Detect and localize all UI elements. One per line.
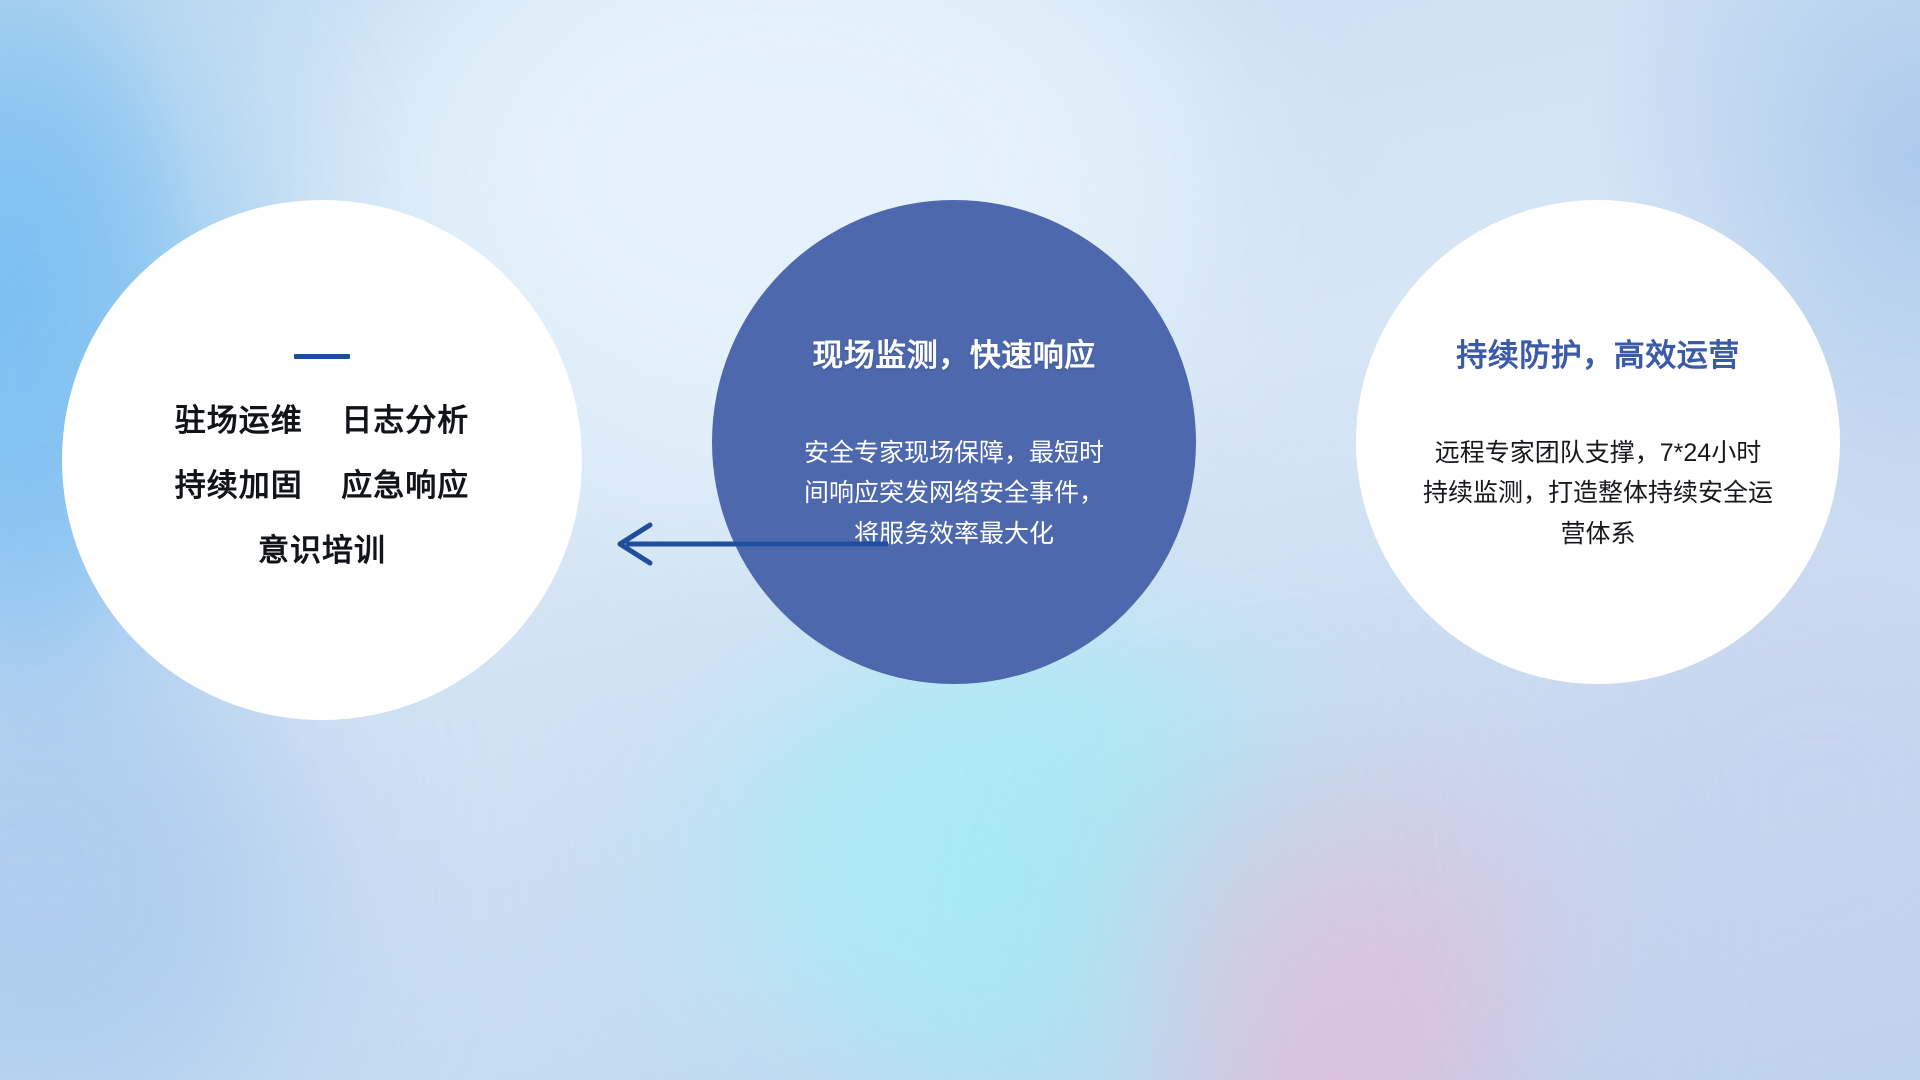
onsite-title: 现场监测，快速响应 [812,330,1096,375]
onsite-monitoring-circle[interactable]: 现场监测，快速响应 安全专家现场保障，最短时间响应突发网络安全事件，将服务效率最… [712,200,1196,684]
remote-operations-circle[interactable]: 持续防护，高效运营 远程专家团队支撑，7*24小时持续监测，打造整体持续安全运营… [1356,200,1840,684]
remote-title: 持续防护，高效运营 [1456,330,1740,375]
services-circle[interactable]: 驻场运维 日志分析 持续加固 应急响应 意识培训 [62,200,582,720]
background-blob-pink [1130,760,1560,1080]
remote-body: 远程专家团队支撑，7*24小时持续监测，打造整体持续安全运营体系 [1423,433,1773,555]
services-line-2: 持续加固 应急响应 [175,470,469,501]
flow-arrow-left-icon [600,516,890,572]
services-line-1: 驻场运维 日志分析 [175,405,469,436]
services-line-3: 意识培训 [258,535,386,566]
slide-canvas: 驻场运维 日志分析 持续加固 应急响应 意识培训 持续防护，高效运营 远程专家团… [0,0,1920,1080]
background-blob-cyan [700,640,1400,1060]
divider-dash [294,354,350,359]
